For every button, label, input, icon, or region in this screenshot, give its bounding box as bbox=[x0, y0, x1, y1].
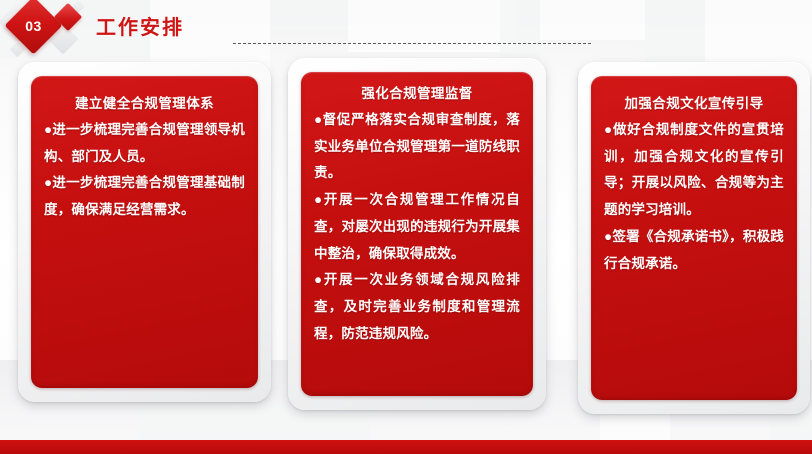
content-cards: 建立健全合规管理体系 ●进一步梳理完善合规管理领导机构、部门及人员。 ●进一步梳… bbox=[0, 0, 812, 430]
card-panel: 强化合规管理监督 ●督促严格落实合规审查制度，落实业务单位合规管理第一道防线职责… bbox=[301, 72, 533, 396]
content-card-1[interactable]: 建立健全合规管理体系 ●进一步梳理完善合规管理领导机构、部门及人员。 ●进一步梳… bbox=[18, 62, 271, 402]
content-card-2[interactable]: 强化合规管理监督 ●督促严格落实合规审查制度，落实业务单位合规管理第一道防线职责… bbox=[288, 58, 546, 410]
card-bullet: ●进一步梳理完善合规管理基础制度，确保满足经营需求。 bbox=[44, 170, 245, 223]
card-title: 强化合规管理监督 bbox=[314, 84, 520, 105]
footer-bar bbox=[0, 440, 812, 454]
card-bullet: ●开展一次合规管理工作情况自查，对屡次出现的违规行为开展集中整治，确保取得成效。 bbox=[314, 187, 520, 267]
card-panel: 加强合规文化宣传引导 ●做好合规制度文件的宣贯培训，加强合规文化的宣传引导；开展… bbox=[591, 76, 797, 400]
card-panel: 建立健全合规管理体系 ●进一步梳理完善合规管理领导机构、部门及人员。 ●进一步梳… bbox=[31, 76, 258, 388]
card-bullet: ●进一步梳理完善合规管理领导机构、部门及人员。 bbox=[44, 117, 245, 170]
slide-canvas: 03 工作安排 建立健全合规管理体系 ●进一步梳理完善合规管理领导机构、部门及人… bbox=[0, 0, 812, 454]
card-bullet: ●督促严格落实合规审查制度，落实业务单位合规管理第一道防线职责。 bbox=[314, 107, 520, 187]
card-bullet: ●做好合规制度文件的宣贯培训，加强合规文化的宣传引导；开展以风险、合规等为主题的… bbox=[604, 117, 784, 224]
card-bullet: ●签署《合规承诺书》，积极践行合规承诺。 bbox=[604, 224, 784, 277]
card-title: 加强合规文化宣传引导 bbox=[604, 94, 784, 115]
card-title: 建立健全合规管理体系 bbox=[44, 94, 245, 115]
content-card-3[interactable]: 加强合规文化宣传引导 ●做好合规制度文件的宣贯培训，加强合规文化的宣传引导；开展… bbox=[578, 62, 810, 414]
card-bullet: ●开展一次业务领域合规风险排查，及时完善业务制度和管理流程，防范违规风险。 bbox=[314, 267, 520, 347]
